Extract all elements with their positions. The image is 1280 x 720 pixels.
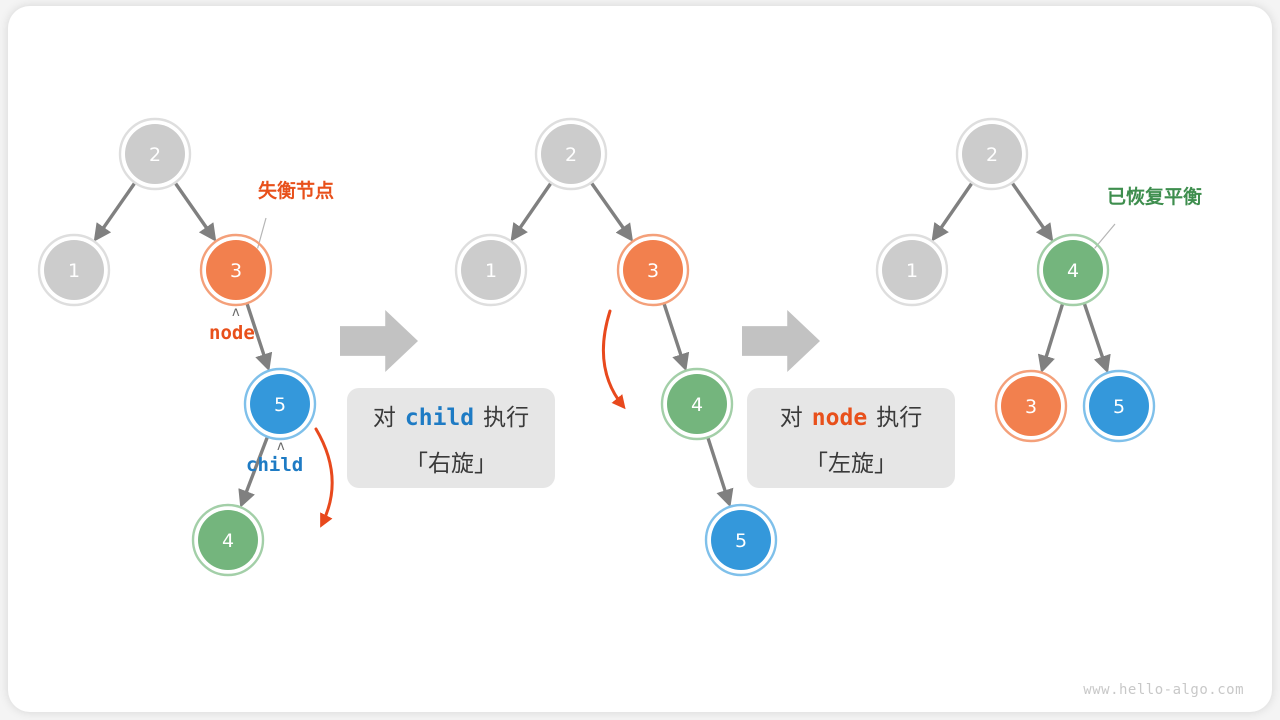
node-value: 2 (565, 144, 577, 166)
tree-edge (174, 182, 214, 239)
step-right-rotation-arrow-icon (340, 310, 418, 372)
imbalanced-node-callout: 失衡节点 (258, 182, 334, 201)
node-value: 4 (222, 530, 234, 552)
node-value: 5 (274, 394, 286, 416)
step-left-rotation-prefix: 对 (780, 398, 803, 432)
step-right-rotation-verb: 执行 (483, 398, 529, 432)
tree-node-5: 5 (706, 505, 776, 575)
tree-node-4: 4 (662, 369, 732, 439)
tree-edge (1084, 302, 1107, 370)
tree-node-4: 4 (193, 505, 263, 575)
node-value: 1 (485, 260, 497, 282)
tree-node-2: 2 (957, 119, 1027, 189)
tree-edge (934, 182, 973, 239)
tree-node-5: 5 (1084, 371, 1154, 441)
node-value: 1 (68, 260, 80, 282)
node-value: 2 (986, 144, 998, 166)
step-left-rotation-target: node (803, 405, 876, 431)
node-value: 5 (735, 530, 747, 552)
node-pointer-label-caret-icon: ʌ (232, 306, 240, 319)
right-rotation-arc (316, 429, 332, 524)
step-left-rotation-arrow-icon (742, 310, 820, 372)
child-pointer-label-caret-icon: ʌ (277, 440, 285, 453)
diagram-stage: 213542134521435 失衡节点ʌnodeʌchild已恢复平衡对chi… (0, 0, 1280, 720)
node-pointer-label: node (209, 324, 255, 343)
node-value: 2 (149, 144, 161, 166)
tree-node-1: 1 (39, 235, 109, 305)
step-left-rotation-verb: 执行 (876, 398, 922, 432)
watermark: www.hello-algo.com (1083, 682, 1244, 698)
tree-node-3: 3 (201, 235, 271, 305)
step-left-rotation-operation: 「左旋」 (805, 444, 897, 478)
tree-node-1: 1 (877, 235, 947, 305)
node-value: 3 (647, 260, 659, 282)
node-value: 4 (1067, 260, 1079, 282)
step-left-rotation-label-box: 对node执行「左旋」 (747, 388, 955, 488)
node-value: 1 (906, 260, 918, 282)
node-value: 5 (1113, 396, 1125, 418)
tree-diagram-svg: 213542134521435 (0, 0, 1280, 720)
tree-node-4: 4 (1038, 235, 1108, 305)
tree-node-5: 5 (245, 369, 315, 439)
left-rotation-arc (603, 311, 623, 406)
step-right-rotation-target: child (396, 405, 483, 431)
tree-edge (664, 302, 686, 368)
tree-edge (96, 182, 136, 239)
step-right-rotation-operation: 「右旋」 (405, 444, 497, 478)
tree-edge (1011, 182, 1051, 239)
child-pointer-label: child (246, 456, 303, 475)
tree-edge (513, 182, 552, 239)
callout-leader-lines-layer (258, 218, 1115, 248)
tree-node-1: 1 (456, 235, 526, 305)
tree-node-2: 2 (120, 119, 190, 189)
step-arrows-layer (340, 310, 820, 372)
tree-node-2: 2 (536, 119, 606, 189)
node-value: 3 (230, 260, 242, 282)
node-value: 3 (1025, 396, 1037, 418)
step-right-rotation-label-box: 对child执行「右旋」 (347, 388, 555, 488)
node-value: 4 (691, 394, 703, 416)
rebalanced-callout: 已恢复平衡 (1107, 188, 1202, 207)
tree-edge (707, 436, 729, 503)
tree-edge (1042, 302, 1063, 369)
tree-node-3: 3 (618, 235, 688, 305)
tree-node-3: 3 (996, 371, 1066, 441)
tree-edge (591, 182, 631, 239)
step-right-rotation-prefix: 对 (373, 398, 396, 432)
